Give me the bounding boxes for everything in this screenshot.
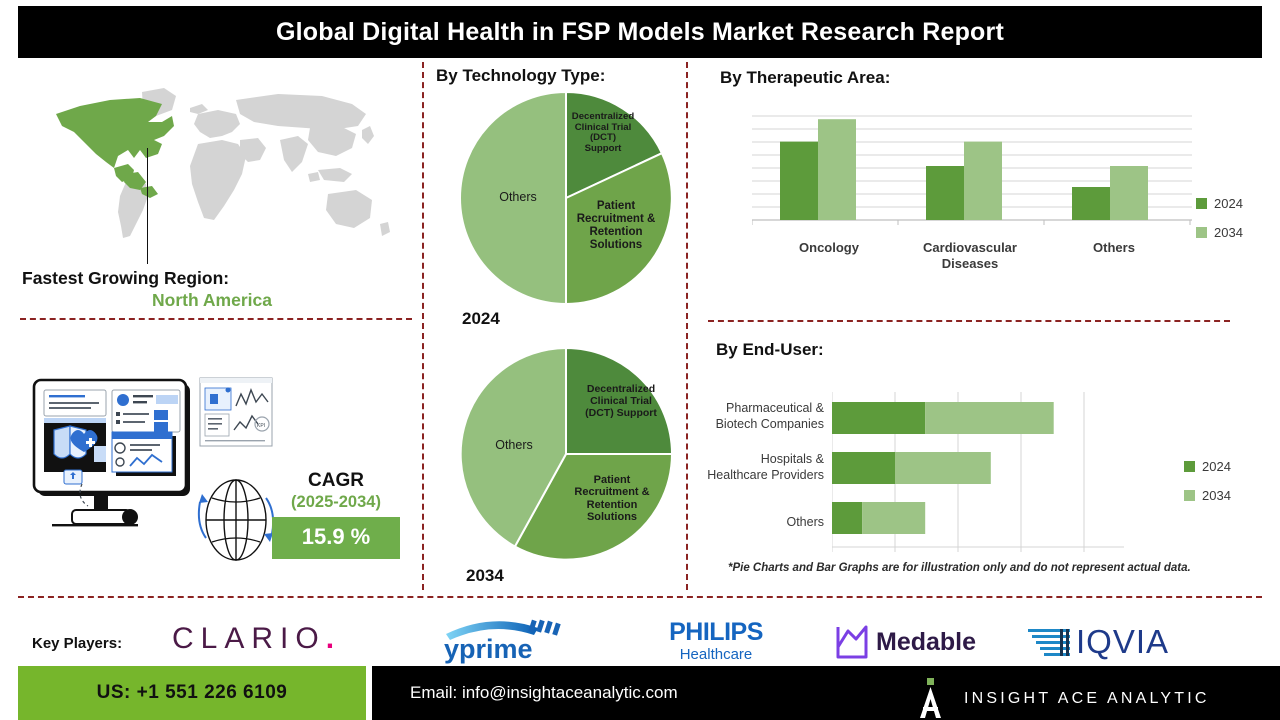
bar-oncology-2024 bbox=[780, 142, 818, 220]
brand-lockup: INSIGHT ACE ANALYTIC bbox=[914, 678, 1210, 720]
svg-text:KPI: KPI bbox=[257, 423, 265, 429]
email-bar: Email: info@insightaceanalytic.com INSIG… bbox=[372, 666, 1280, 720]
chart-disclaimer: *Pie Charts and Bar Graphs are for illus… bbox=[728, 562, 1198, 574]
pie-2034-svg bbox=[452, 348, 680, 560]
iqvia-mark-icon bbox=[1026, 625, 1072, 659]
logo-clario: CLARIO. bbox=[172, 622, 341, 656]
end-user-chart bbox=[832, 392, 1124, 552]
pie-2024-year: 2024 bbox=[462, 309, 500, 329]
map-other-regions bbox=[118, 88, 390, 238]
bar-others-2024 bbox=[1072, 187, 1110, 220]
therapeutic-area-legend: 2024 2034 bbox=[1196, 196, 1243, 254]
clario-text: CLARIO bbox=[172, 622, 326, 656]
end-user-category-pharma: Pharmaceutical & Biotech Companies bbox=[694, 401, 824, 432]
pie-2024-slice-others bbox=[460, 92, 566, 304]
bar-oncology-2034 bbox=[818, 119, 856, 220]
iqvia-wordmark: IQVIA bbox=[1076, 623, 1169, 661]
philips-subtitle: Healthcare bbox=[640, 645, 792, 665]
therapeutic-category-cardiovascular: Cardiovascular Diseases bbox=[900, 240, 1040, 271]
cagr-title: CAGR bbox=[272, 470, 400, 492]
map-north-america-highlight bbox=[56, 98, 174, 198]
divider-horizontal-right bbox=[708, 320, 1230, 322]
legend-item-2034: 2034 bbox=[1196, 225, 1243, 240]
cagr-block: CAGR (2025-2034) 15.9 % bbox=[272, 470, 400, 559]
cagr-value: 15.9 % bbox=[272, 517, 400, 559]
logo-iqvia: IQVIA bbox=[1026, 620, 1169, 664]
phone-number: US: +1 551 226 6109 bbox=[97, 682, 288, 704]
legend-swatch-eu-2024 bbox=[1184, 461, 1195, 472]
end-user-category-others: Others bbox=[694, 515, 824, 531]
bar-pharma-2034 bbox=[925, 402, 1053, 434]
brand-name: INSIGHT ACE ANALYTIC bbox=[964, 690, 1210, 708]
legend-label-2034: 2034 bbox=[1214, 225, 1243, 240]
end-user-category-hospitals: Hospitals & Healthcare Providers bbox=[694, 452, 824, 483]
bar-endusers-others-2034 bbox=[862, 502, 925, 534]
logo-yprime: yprime bbox=[442, 618, 602, 664]
end-user-others-text: Others bbox=[694, 515, 824, 531]
pie-chart-2024: Decentralized Clinical Trial (DCT) Suppo… bbox=[452, 92, 680, 304]
legend-swatch-eu-2034 bbox=[1184, 490, 1195, 501]
yprime-wordmark: yprime bbox=[444, 634, 533, 664]
therapeutic-category-others: Others bbox=[1044, 240, 1184, 256]
legend-swatch-2024 bbox=[1196, 198, 1207, 209]
medable-wordmark: Medable bbox=[876, 628, 976, 657]
pie-2034-year: 2034 bbox=[466, 566, 504, 586]
therapeutic-area-chart bbox=[752, 112, 1192, 230]
world-map-svg bbox=[22, 78, 402, 258]
globe-svg bbox=[190, 468, 282, 568]
divider-vertical-right bbox=[686, 62, 688, 590]
legend-label-2024: 2024 bbox=[1214, 196, 1243, 211]
therapeutic-area-title: By Therapeutic Area: bbox=[720, 68, 890, 88]
bar-others-2034 bbox=[1110, 166, 1148, 220]
pie-2024-svg bbox=[452, 92, 680, 304]
bar-pharma-2024 bbox=[832, 402, 925, 434]
bar-cardiovascular-2024 bbox=[926, 166, 964, 220]
bar-hospitals-2034 bbox=[895, 452, 991, 484]
infographic-page: Global Digital Health in FSP Models Mark… bbox=[0, 0, 1280, 720]
logo-philips: PHILIPS Healthcare bbox=[640, 620, 792, 665]
end-user-legend: 2024 2034 bbox=[1184, 459, 1231, 517]
insight-ace-logo-icon bbox=[914, 678, 948, 720]
legend-item-eu-2024: 2024 bbox=[1184, 459, 1231, 474]
legend-item-2024: 2024 bbox=[1196, 196, 1243, 211]
legend-label-eu-2034: 2034 bbox=[1202, 488, 1231, 503]
end-user-svg bbox=[832, 392, 1124, 552]
therapeutic-area-svg bbox=[752, 112, 1192, 230]
cagr-years: (2025-2034) bbox=[272, 492, 400, 513]
end-user-title: By End-User: bbox=[716, 340, 824, 360]
phone-bar[interactable]: US: +1 551 226 6109 bbox=[18, 666, 366, 720]
technology-section-title: By Technology Type: bbox=[436, 66, 605, 86]
pie-2034-slice-dct bbox=[566, 348, 672, 454]
email-address[interactable]: Email: info@insightaceanalytic.com bbox=[410, 683, 678, 703]
header-bar: Global Digital Health in FSP Models Mark… bbox=[18, 6, 1262, 58]
page-title: Global Digital Health in FSP Models Mark… bbox=[276, 18, 1004, 47]
yprime-svg: yprime bbox=[442, 618, 602, 664]
fastest-growing-region-label: Fastest Growing Region: bbox=[22, 268, 402, 289]
bar-endusers-others-2024 bbox=[832, 502, 862, 534]
logo-medable: Medable bbox=[834, 622, 976, 662]
bar-cardiovascular-2034 bbox=[964, 142, 1002, 220]
pie-chart-2034: Decentralized Clinical Trial (DCT) Suppo… bbox=[452, 348, 680, 560]
legend-item-eu-2034: 2034 bbox=[1184, 488, 1231, 503]
fastest-growing-region-value: North America bbox=[22, 290, 402, 311]
map-pointer-line bbox=[147, 148, 148, 264]
divider-vertical-left bbox=[422, 62, 424, 590]
divider-horizontal-left bbox=[20, 318, 412, 320]
key-players-label: Key Players: bbox=[32, 635, 122, 652]
world-map bbox=[22, 78, 402, 258]
clario-dot: . bbox=[326, 622, 341, 656]
divider-horizontal-bottom bbox=[18, 596, 1262, 598]
philips-wordmark: PHILIPS bbox=[640, 620, 792, 645]
therapeutic-category-oncology: Oncology bbox=[736, 240, 922, 256]
legend-swatch-2034 bbox=[1196, 227, 1207, 238]
legend-label-eu-2024: 2024 bbox=[1202, 459, 1231, 474]
globe-icon bbox=[190, 468, 282, 568]
medable-mark-icon bbox=[834, 623, 870, 661]
bar-hospitals-2024 bbox=[832, 452, 895, 484]
